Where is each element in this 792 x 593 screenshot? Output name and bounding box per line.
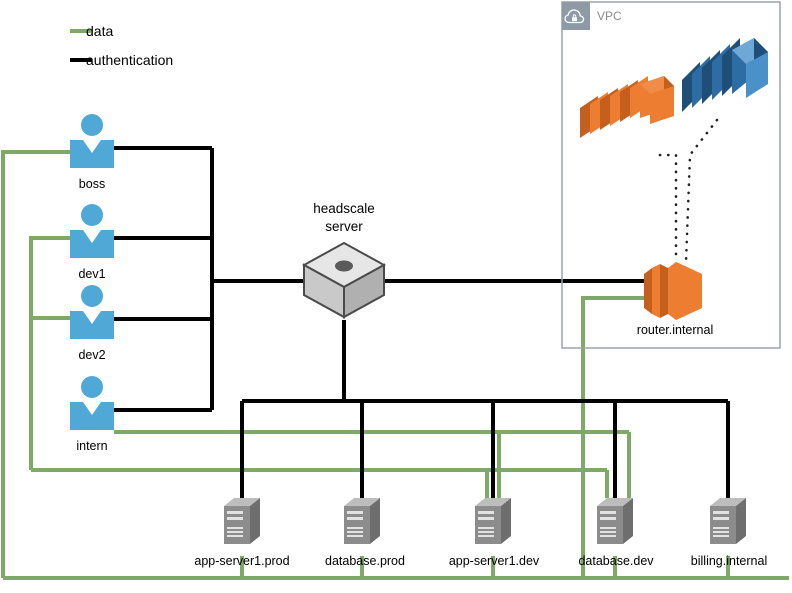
user-label: dev1: [78, 267, 105, 281]
user-label: boss: [79, 177, 105, 191]
user-icon: [70, 376, 114, 430]
user-boss[interactable]: boss: [70, 114, 114, 191]
data-link-dev1: [31, 238, 70, 470]
server-icon: [344, 498, 380, 544]
data-link-boss: [3, 152, 70, 578]
server-app-server1-prod[interactable]: app-server1.prod: [194, 498, 289, 568]
data-link-dev2: [31, 318, 70, 470]
server-icon: [710, 498, 746, 544]
user-icon: [70, 285, 114, 339]
legend-label: authentication: [86, 52, 173, 68]
server-icon: [224, 498, 260, 544]
data-links-group: [3, 152, 789, 578]
server-icon: [475, 498, 511, 544]
legend-item-authentication: authentication: [70, 52, 173, 68]
vpc-internal-connectors: [660, 120, 717, 262]
headscale-label-line2: server: [325, 219, 363, 234]
diagram-canvas: VPC router.internal boss dev1 dev2 inter…: [0, 0, 792, 593]
user-icon: [70, 114, 114, 168]
server-billing-internal[interactable]: billing.internal: [691, 498, 767, 568]
server-database-dev[interactable]: database.dev: [578, 498, 654, 568]
router-label: router.internal: [637, 323, 713, 337]
router-icon[interactable]: [644, 262, 702, 320]
user-dev1[interactable]: dev1: [70, 204, 114, 281]
vpc-title: VPC: [597, 9, 622, 23]
user-intern[interactable]: intern: [70, 376, 114, 453]
server-label: app-server1.dev: [449, 554, 540, 568]
server-label: database.prod: [325, 554, 405, 568]
headscale-label-line1: headscale: [313, 201, 375, 216]
user-icon: [70, 204, 114, 258]
user-label: dev2: [78, 348, 105, 362]
legend-label: data: [86, 23, 113, 39]
cube-icon: [304, 243, 384, 317]
ec2-stack-icon[interactable]: [580, 76, 674, 138]
dotted-ec2-to-router: [660, 155, 676, 262]
legend-item-data: data: [70, 23, 113, 39]
headscale-server[interactable]: headscale server: [304, 201, 384, 317]
dotted-rds-to-router: [686, 120, 717, 262]
server-app-server1-dev[interactable]: app-server1.dev: [449, 498, 540, 568]
server-database-prod[interactable]: database.prod: [325, 498, 405, 568]
server-label: database.dev: [578, 554, 654, 568]
server-label: app-server1.prod: [194, 554, 289, 568]
user-label: intern: [76, 439, 107, 453]
server-label: billing.internal: [691, 554, 767, 568]
user-dev2[interactable]: dev2: [70, 285, 114, 362]
legend: data authentication: [70, 23, 173, 68]
server-icon: [597, 498, 633, 544]
rds-stack-icon[interactable]: [682, 38, 768, 112]
network-diagram: VPC router.internal boss dev1 dev2 inter…: [0, 0, 792, 593]
